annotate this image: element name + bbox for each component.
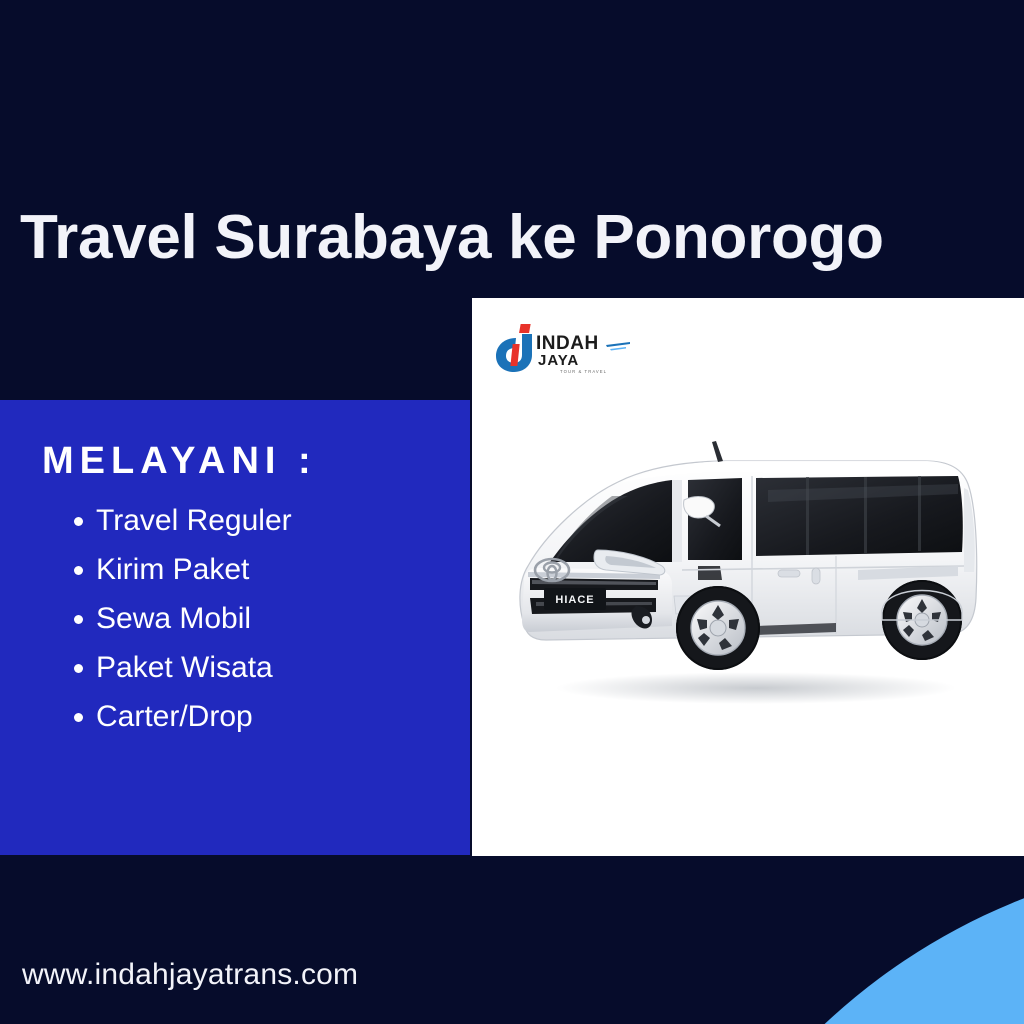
services-list: Travel Reguler Kirim Paket Sewa Mobil Pa… [64, 496, 292, 741]
hiace-badge-label: HIACE [555, 594, 594, 606]
brand-name-line1: INDAH [536, 333, 599, 354]
front-wheel [676, 586, 760, 670]
door-handle [778, 570, 800, 577]
list-item: Sewa Mobil [96, 594, 292, 643]
list-item: Kirim Paket [96, 545, 292, 594]
brand-tagline: TOUR & TRAVEL [560, 369, 607, 374]
vehicle-illustration: HIACE [506, 420, 1006, 720]
front-door-window [688, 478, 742, 560]
accent-blob-shape [629, 856, 1024, 1024]
services-heading: MELAYANI : [42, 440, 317, 483]
hiace-badge: HIACE [544, 588, 606, 610]
tail-light [964, 488, 975, 572]
brand-logo: INDAH JAYA TOUR & TRAVEL [494, 322, 634, 376]
vehicle-shadow [556, 672, 956, 704]
door-handle [812, 568, 820, 584]
page-title: Travel Surabaya ke Ponorogo [20, 205, 980, 272]
ij-monogram-icon [496, 324, 532, 372]
accent-blob-light-blue [629, 856, 1024, 1024]
list-item: Paket Wisata [96, 643, 292, 692]
website-url: www.indahjayatrans.com [22, 958, 358, 992]
list-item: Travel Reguler [96, 496, 292, 545]
services-panel: MELAYANI : Travel Reguler Kirim Paket Se… [0, 400, 470, 855]
brand-name-line2: JAYA [538, 352, 579, 369]
roof-antenna [712, 441, 723, 462]
poster-canvas: Travel Surabaya ke Ponorogo MELAYANI : T… [0, 0, 1024, 1024]
vehicle-image-card: INDAH JAYA TOUR & TRAVEL [472, 298, 1024, 856]
list-item: Carter/Drop [96, 692, 292, 741]
